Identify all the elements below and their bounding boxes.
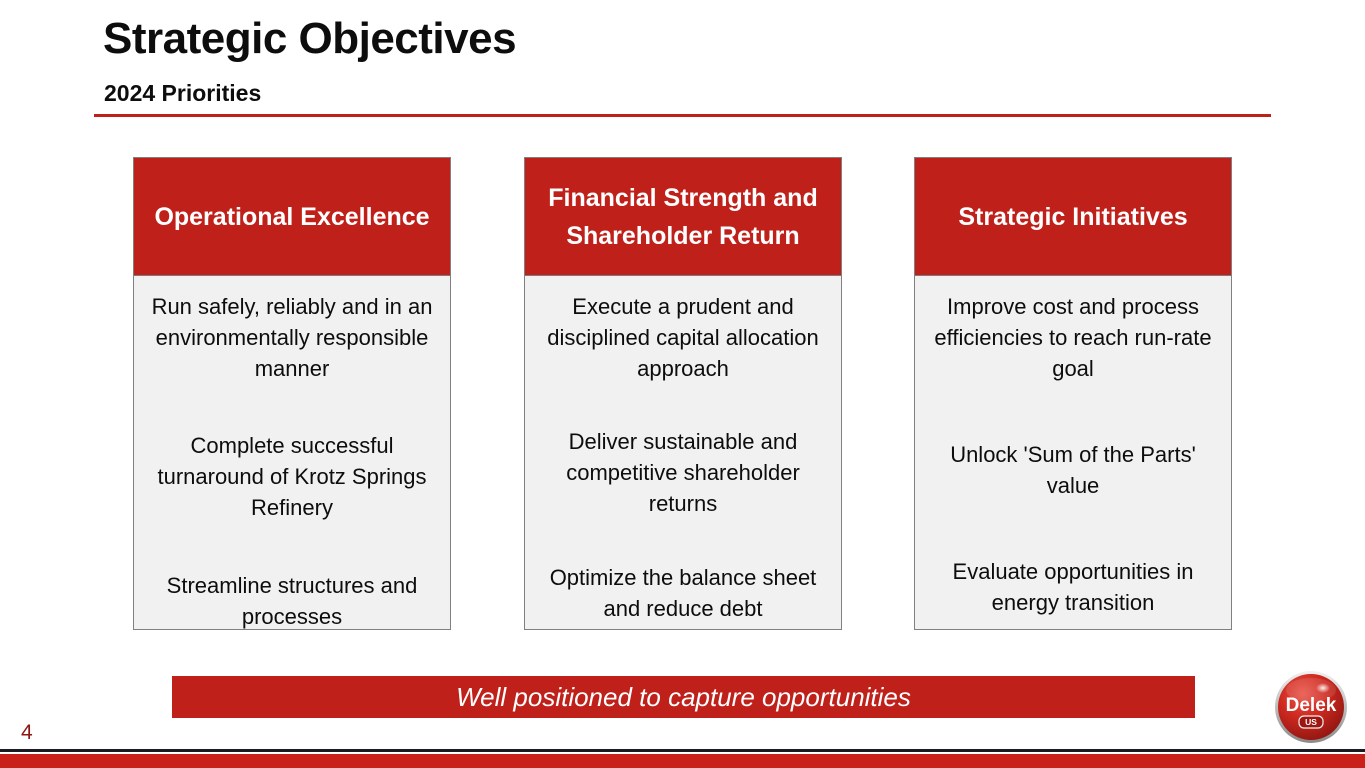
page-subtitle: 2024 Priorities — [104, 79, 261, 107]
objective-card-operational-excellence: Operational Excellence Run safely, relia… — [133, 157, 451, 630]
callout-banner: Well positioned to capture opportunities — [172, 676, 1195, 718]
page-title: Strategic Objectives — [103, 13, 516, 65]
objective-item: Complete successful turnaround of Krotz … — [144, 430, 440, 523]
us-badge-label: US — [1305, 717, 1317, 727]
objective-card-strategic-initiatives: Strategic Initiatives Improve cost and p… — [914, 157, 1232, 630]
objective-item: Run safely, reliably and in an environme… — [144, 291, 440, 384]
objective-item: Execute a prudent and disciplined capita… — [535, 291, 831, 384]
objective-card-body: Execute a prudent and disciplined capita… — [525, 276, 841, 629]
objective-card-header: Operational Excellence — [134, 158, 450, 276]
objective-item: Streamline structures and processes — [144, 570, 440, 632]
objective-card-body: Run safely, reliably and in an environme… — [134, 276, 450, 629]
objective-card-header: Financial Strength and Shareholder Retur… — [525, 158, 841, 276]
delek-us-logo: Delek US — [1274, 670, 1348, 744]
objective-item: Deliver sustainable and competitive shar… — [535, 426, 831, 519]
objective-card-financial-strength-and-shareholder-return: Financial Strength and Shareholder Retur… — [524, 157, 842, 630]
page-number: 4 — [21, 720, 33, 746]
objective-card-body: Improve cost and process efficiencies to… — [915, 276, 1231, 629]
title-divider-rule — [94, 114, 1271, 117]
footer-red-bar — [0, 754, 1365, 768]
objective-card-header: Strategic Initiatives — [915, 158, 1231, 276]
delek-wordmark: Delek — [1286, 695, 1337, 716]
footer-divider-line — [0, 749, 1365, 752]
objective-item: Unlock 'Sum of the Parts' value — [925, 439, 1221, 501]
delek-logo-icon: Delek US — [1274, 670, 1348, 744]
objective-item: Improve cost and process efficiencies to… — [925, 291, 1221, 384]
objective-item: Optimize the balance sheet and reduce de… — [535, 562, 831, 624]
objective-item: Evaluate opportunities in energy transit… — [925, 556, 1221, 618]
